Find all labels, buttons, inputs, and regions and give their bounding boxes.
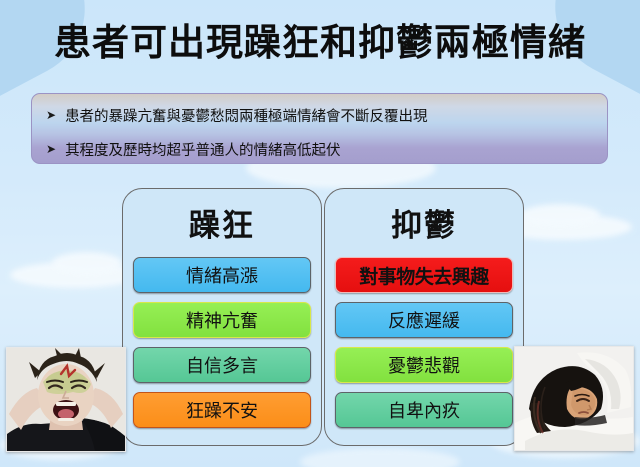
chip-item[interactable]: 精神亢奮 (133, 302, 311, 338)
angry-man-photo (6, 347, 126, 452)
cloud-shape (520, 204, 600, 226)
card-title-depression: 抑鬱 (325, 200, 523, 245)
chip-list-mania: 情緒高漲 精神亢奮 自信多言 狂躁不安 (123, 257, 321, 428)
chip-item[interactable]: 狂躁不安 (133, 392, 311, 428)
slide-root: 患者可出現躁狂和抑鬱兩極情緒 ➤ 患者的暴躁亢奮與憂鬱愁悶兩種極端情緒會不斷反覆… (0, 0, 640, 467)
bullet-panel: ➤ 患者的暴躁亢奮與憂鬱愁悶兩種極端情緒會不斷反覆出現 ➤ 其程度及歷時均超乎普… (31, 93, 608, 164)
chip-item[interactable]: 情緒高漲 (133, 257, 311, 293)
cloud-shape (52, 252, 122, 274)
chip-item[interactable]: 自卑內疚 (335, 392, 513, 428)
bullet-item: ➤ 其程度及歷時均超乎普通人的情緒高低起伏 (32, 135, 607, 163)
arrow-right-icon: ➤ (46, 143, 56, 155)
chip-item[interactable]: 反應遲緩 (335, 302, 513, 338)
sad-woman-photo (514, 346, 634, 451)
card-title-mania: 躁狂 (123, 200, 321, 245)
arrow-right-icon: ➤ (46, 109, 56, 121)
slide-title: 患者可出現躁狂和抑鬱兩極情緒 (0, 20, 640, 66)
chip-item[interactable]: 憂鬱悲觀 (335, 347, 513, 383)
bullet-text: 患者的暴躁亢奮與憂鬱愁悶兩種極端情緒會不斷反覆出現 (65, 105, 428, 126)
chip-item[interactable]: 對事物失去興趣 (335, 257, 513, 293)
bullet-text: 其程度及歷時均超乎普通人的情緒高低起伏 (65, 139, 341, 160)
chip-list-depression: 對事物失去興趣 反應遲緩 憂鬱悲觀 自卑內疚 (325, 257, 523, 428)
bullet-item: ➤ 患者的暴躁亢奮與憂鬱愁悶兩種極端情緒會不斷反覆出現 (32, 101, 607, 129)
card-depression: 抑鬱 對事物失去興趣 反應遲緩 憂鬱悲觀 自卑內疚 (324, 188, 524, 446)
card-mania: 躁狂 情緒高漲 精神亢奮 自信多言 狂躁不安 (122, 188, 322, 446)
chip-item[interactable]: 自信多言 (133, 347, 311, 383)
cloud-shape (300, 448, 460, 467)
